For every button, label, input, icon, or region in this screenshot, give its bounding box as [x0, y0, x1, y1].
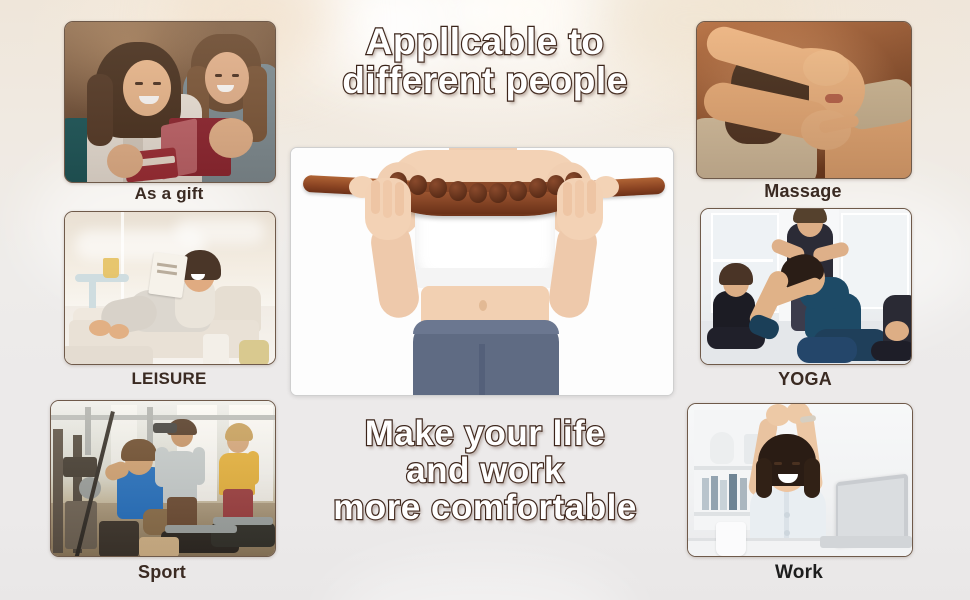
caption-work: Work: [687, 562, 911, 584]
panel-massage[interactable]: [696, 21, 912, 179]
photo-work: [688, 404, 912, 556]
infographic-canvas: Appllcable to different people: [0, 0, 970, 600]
panel-as-a-gift[interactable]: [64, 21, 276, 183]
panel-yoga[interactable]: [700, 208, 912, 365]
photo-yoga: [701, 209, 911, 364]
caption-leisure: LEISURE: [64, 369, 274, 389]
caption-sport: Sport: [50, 562, 274, 583]
photo-leisure: [65, 212, 275, 364]
panel-work[interactable]: [687, 403, 913, 557]
center-product-card[interactable]: [290, 147, 674, 396]
caption-massage: Massage: [696, 181, 910, 202]
caption-as-a-gift: As a gift: [64, 184, 274, 204]
photo-as-a-gift: [65, 22, 275, 182]
panel-leisure[interactable]: [64, 211, 276, 365]
caption-yoga: YOGA: [700, 369, 910, 390]
photo-product-hero: [291, 148, 673, 395]
bokeh-light: [330, 560, 630, 600]
photo-massage: [697, 22, 911, 178]
